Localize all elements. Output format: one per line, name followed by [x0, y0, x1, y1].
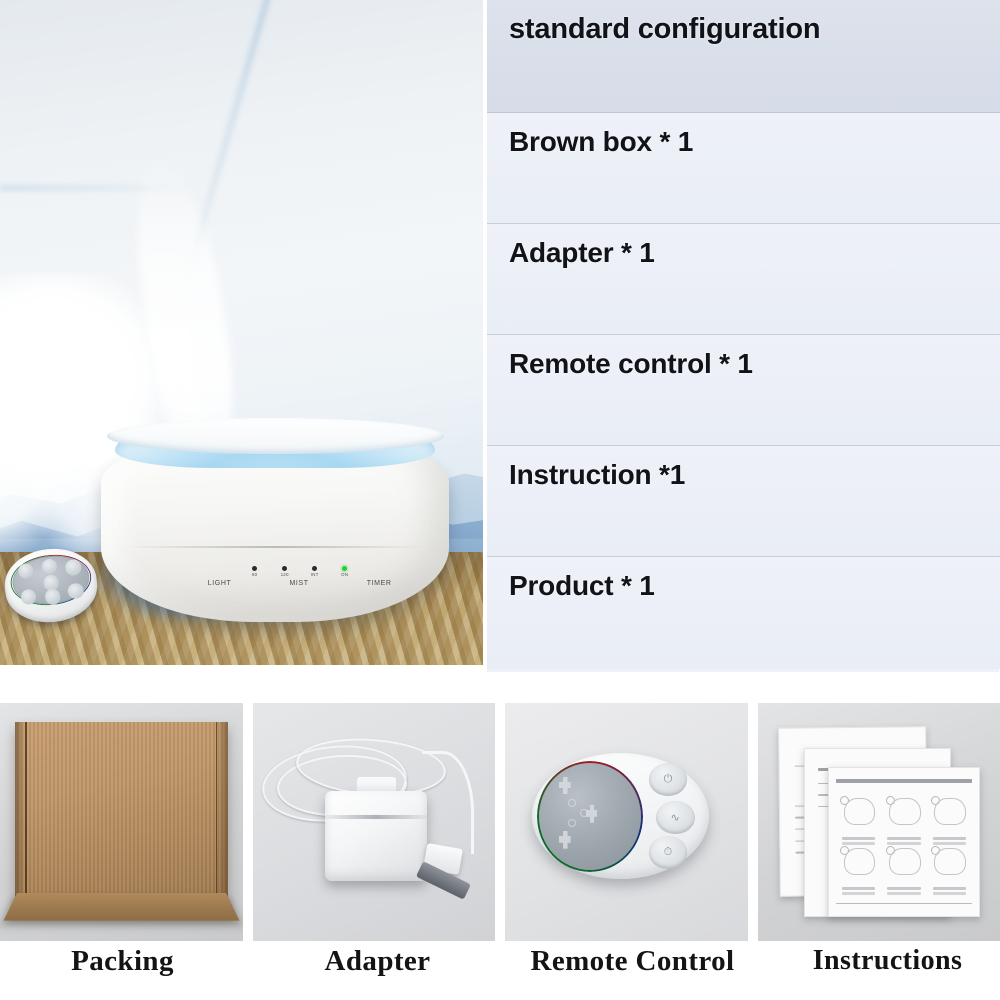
instruction-step	[838, 795, 879, 842]
instruction-step	[929, 795, 970, 842]
instruction-step	[883, 845, 924, 892]
led-label: ON	[341, 572, 348, 577]
table-header-row: standard configuration	[487, 0, 1000, 113]
panel-group-labels: LIGHT MIST TIMER	[206, 580, 394, 587]
led-dot	[282, 566, 287, 571]
remote-control-device: ⏻ ∿ ⏱	[532, 753, 709, 879]
box-crease-left	[25, 722, 27, 908]
led-dot	[252, 566, 257, 571]
box-front-flap	[3, 893, 239, 920]
aroma-diffuser: 60 120 INT ON LIGHT	[101, 422, 449, 622]
adapter-seam	[325, 815, 427, 819]
table-row: Remote control * 1	[487, 335, 1000, 446]
instruction-step	[883, 795, 924, 842]
mist-mode-button-icon: ∿	[656, 801, 695, 834]
led-label: 120	[281, 572, 289, 577]
hero-remote-button	[44, 588, 61, 605]
box-texture	[15, 722, 228, 908]
table-cell-value: Adapter * 1	[509, 238, 1000, 269]
table-cell-value: Brown box * 1	[509, 127, 1000, 158]
hero-remote-button	[65, 559, 82, 576]
table-row: Instruction *1	[487, 446, 1000, 557]
instruction-sheet-front	[828, 767, 980, 917]
remote-rgb-ring	[537, 761, 643, 872]
led-indicator-row: 60 120 INT ON	[206, 566, 394, 577]
packing-photo	[0, 703, 243, 941]
panel-label-mist: MIST	[289, 580, 308, 587]
adapter-output-cable	[422, 751, 474, 854]
remote-photo: ⏻ ∿ ⏱	[505, 703, 748, 941]
led-label: 60	[252, 572, 257, 577]
thumbnail-packing	[0, 703, 243, 941]
table-row: Product * 1	[487, 557, 1000, 669]
diffuser-control-panel: 60 120 INT ON LIGHT	[206, 566, 394, 587]
led-dot-active	[342, 566, 347, 571]
caption-adapter: Adapter	[255, 945, 500, 993]
table-row: Adapter * 1	[487, 224, 1000, 335]
adapter-brick	[325, 791, 427, 881]
led-indicator-60: 60	[245, 566, 265, 577]
instructions-photo	[758, 703, 1000, 941]
adapter-photo	[253, 703, 496, 941]
timer-button-icon: ⏱	[649, 836, 688, 869]
diffuser-seam	[126, 546, 425, 548]
led-label: INT	[311, 572, 319, 577]
power-button-icon: ⏻	[649, 763, 688, 796]
table-header-label: standard configuration	[509, 14, 1000, 46]
table-cell-value: Instruction *1	[509, 460, 1000, 491]
product-detail-page: 60 120 INT ON LIGHT	[0, 0, 1000, 1000]
caption-remote-control: Remote Control	[510, 945, 755, 993]
caption-instructions: Instructions	[765, 945, 1000, 993]
box-flap-right	[217, 722, 228, 908]
led-indicator-on: ON	[335, 566, 355, 577]
thumbnail-adapter	[253, 703, 496, 941]
thumbnail-remote-control: ⏻ ∿ ⏱	[505, 703, 748, 941]
table-cell-value: Remote control * 1	[509, 349, 1000, 380]
thumbnail-instructions	[758, 703, 1000, 941]
table-row: Brown box * 1	[487, 113, 1000, 224]
led-indicator-int: INT	[305, 566, 325, 577]
led-indicator-120: 120	[275, 566, 295, 577]
instruction-step	[838, 845, 879, 892]
panel-label-timer: TIMER	[367, 580, 392, 587]
diffuser-rim	[107, 418, 444, 454]
standard-configuration-table: standard configuration Brown box * 1 Ada…	[487, 0, 1000, 672]
box-flap-left	[15, 722, 26, 908]
box-crease-right	[216, 722, 218, 908]
instruction-step	[929, 845, 970, 892]
table-cell-value: Product * 1	[509, 571, 1000, 602]
led-dot	[312, 566, 317, 571]
panel-label-light: LIGHT	[208, 580, 232, 587]
accessory-thumbnail-strip: ⏻ ∿ ⏱	[0, 703, 1000, 943]
instruction-step-grid	[838, 795, 970, 892]
thumbnail-captions: Packing Adapter Remote Control Instructi…	[0, 945, 1000, 993]
shipping-box	[15, 722, 228, 908]
caption-packing: Packing	[0, 945, 245, 993]
hero-product-photo: 60 120 INT ON LIGHT	[0, 0, 483, 665]
